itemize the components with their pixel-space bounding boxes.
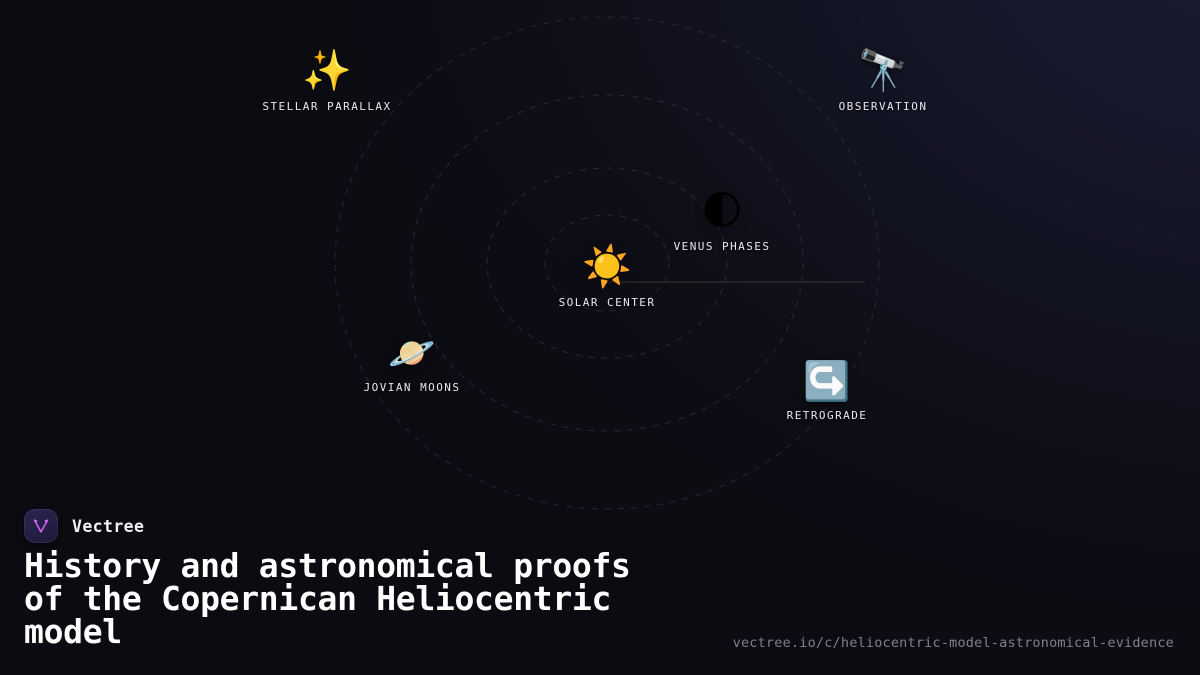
- vectree-v-glyph: [31, 516, 51, 536]
- page-title: History and astronomical proofs of the C…: [24, 549, 784, 648]
- telescope-icon: 🔭: [858, 51, 908, 91]
- vectree-logo-icon: [24, 509, 58, 543]
- footer: Vectree History and astronomical proofs …: [0, 495, 1200, 675]
- brand[interactable]: Vectree: [24, 509, 144, 543]
- node-solar-center[interactable]: ☀️ SOLAR CENTER: [559, 247, 656, 309]
- ringed-planet-icon: 🪐: [388, 334, 435, 372]
- node-label: OBSERVATION: [839, 100, 928, 113]
- brand-name: Vectree: [72, 517, 144, 536]
- half-moon-icon: 🌓: [701, 191, 743, 231]
- node-stellar-parallax[interactable]: ✨ STELLAR PARALLAX: [262, 51, 391, 113]
- node-label: VENUS PHASES: [674, 240, 771, 253]
- sparkles-icon: ✨: [302, 51, 352, 91]
- node-label: STELLAR PARALLAX: [262, 100, 391, 113]
- node-retrograde[interactable]: ↪️ RETROGRADE: [787, 362, 868, 422]
- curved-arrow-icon: ↪️: [803, 362, 850, 400]
- poster-canvas: ☀️ SOLAR CENTER 🌓 VENUS PHASES ✨ STELLAR…: [0, 0, 1200, 675]
- node-observation[interactable]: 🔭 OBSERVATION: [839, 51, 928, 113]
- node-label: RETROGRADE: [787, 409, 868, 422]
- sun-icon: ☀️: [582, 247, 632, 287]
- node-venus-phases[interactable]: 🌓 VENUS PHASES: [674, 191, 771, 253]
- node-label: JOVIAN MOONS: [364, 381, 461, 394]
- node-jovian-moons[interactable]: 🪐 JOVIAN MOONS: [364, 334, 461, 394]
- source-url: vectree.io/c/heliocentric-model-astronom…: [733, 635, 1174, 651]
- node-label: SOLAR CENTER: [559, 296, 656, 309]
